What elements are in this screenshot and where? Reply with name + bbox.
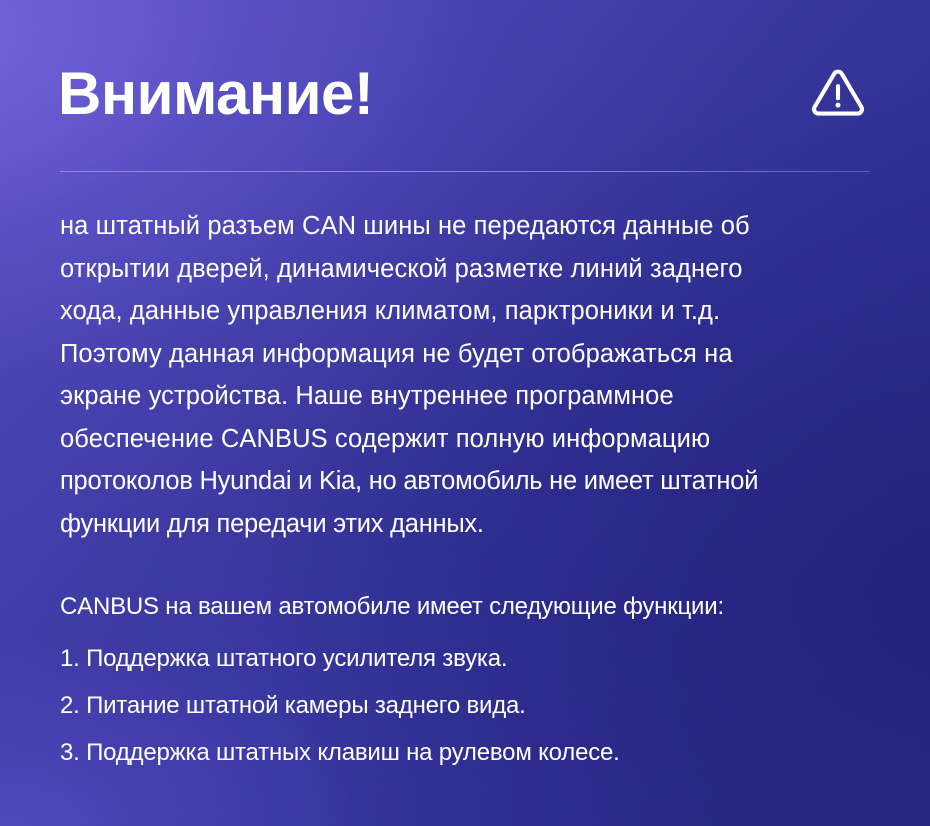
body-line: на штатный разъем CAN шины не передаются… xyxy=(60,205,878,248)
list-item: 3. Поддержка штатных клавиш на рулевом к… xyxy=(60,729,878,776)
banner-header: Внимание! xyxy=(58,52,870,136)
warning-notice-banner: Внимание! на штатный разъем CAN шины не … xyxy=(0,0,930,826)
body-line: обеспечение CANBUS содержит полную инфор… xyxy=(60,418,878,461)
list-item: 1. Поддержка штатного усилителя звука. xyxy=(60,635,878,682)
body-line: открытии дверей, динамической разметке л… xyxy=(60,248,878,291)
body-paragraph: на штатный разъем CAN шины не передаются… xyxy=(60,205,878,545)
list-item: 2. Питание штатной камеры заднего вида. xyxy=(60,682,878,729)
header-divider xyxy=(60,171,870,172)
body-line: функции для передачи этих данных. xyxy=(60,503,878,546)
body-line: Поэтому данная информация не будет отобр… xyxy=(60,333,878,376)
body-line: хода, данные управления климатом, парктр… xyxy=(60,290,878,333)
body-line: протоколов Hyundai и Kia, но автомобиль … xyxy=(60,460,878,503)
features-intro: CANBUS на вашем автомобиле имеет следующ… xyxy=(60,589,878,624)
page-title: Внимание! xyxy=(58,64,373,124)
body-line: экране устройства. Наше внутреннее прогр… xyxy=(60,375,878,418)
banner-content: Внимание! на штатный разъем CAN шины не … xyxy=(0,0,930,826)
features-list: CANBUS на вашем автомобиле имеет следующ… xyxy=(60,589,878,776)
warning-triangle-icon xyxy=(810,66,866,122)
